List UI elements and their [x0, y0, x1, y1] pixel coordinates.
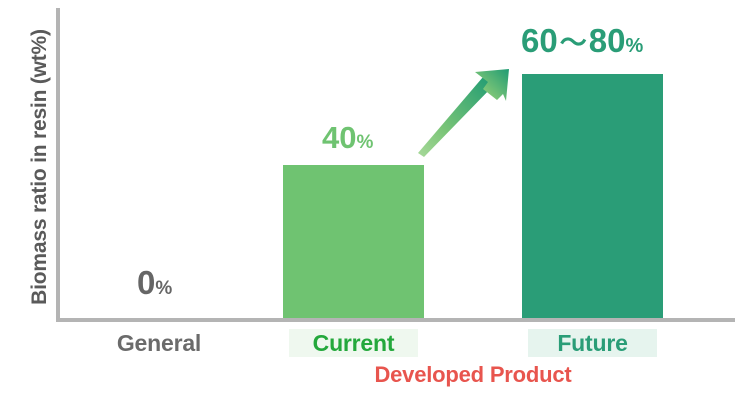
value-number-future-low: 60 [521, 22, 558, 59]
value-number-general: 0 [137, 264, 155, 301]
category-label-current: Current [289, 329, 418, 357]
x-axis-line [56, 318, 735, 322]
value-percent-future: % [625, 35, 643, 57]
value-label-future: 60～80% [521, 24, 643, 57]
growth-arrow-icon [405, 58, 525, 163]
value-percent-general: % [155, 278, 172, 299]
value-percent-current: % [356, 132, 373, 153]
y-axis-line [56, 8, 60, 320]
value-number-future-high: 80 [589, 22, 626, 59]
bar-future [522, 74, 663, 318]
value-number-current: 40 [322, 120, 356, 155]
category-label-general: General [113, 329, 205, 357]
value-label-general: 0% [137, 266, 172, 299]
bar-current [283, 165, 424, 318]
developed-product-caption: Developed Product [283, 362, 663, 388]
value-label-current: 40% [322, 122, 373, 153]
biomass-ratio-bar-chart: Biomass ratio in resin (wt%) 0% 40% 60～8… [0, 0, 750, 400]
category-label-future: Future [528, 329, 657, 357]
y-axis-title: Biomass ratio in resin (wt%) [28, 7, 52, 327]
value-range-separator: ～ [558, 28, 589, 58]
